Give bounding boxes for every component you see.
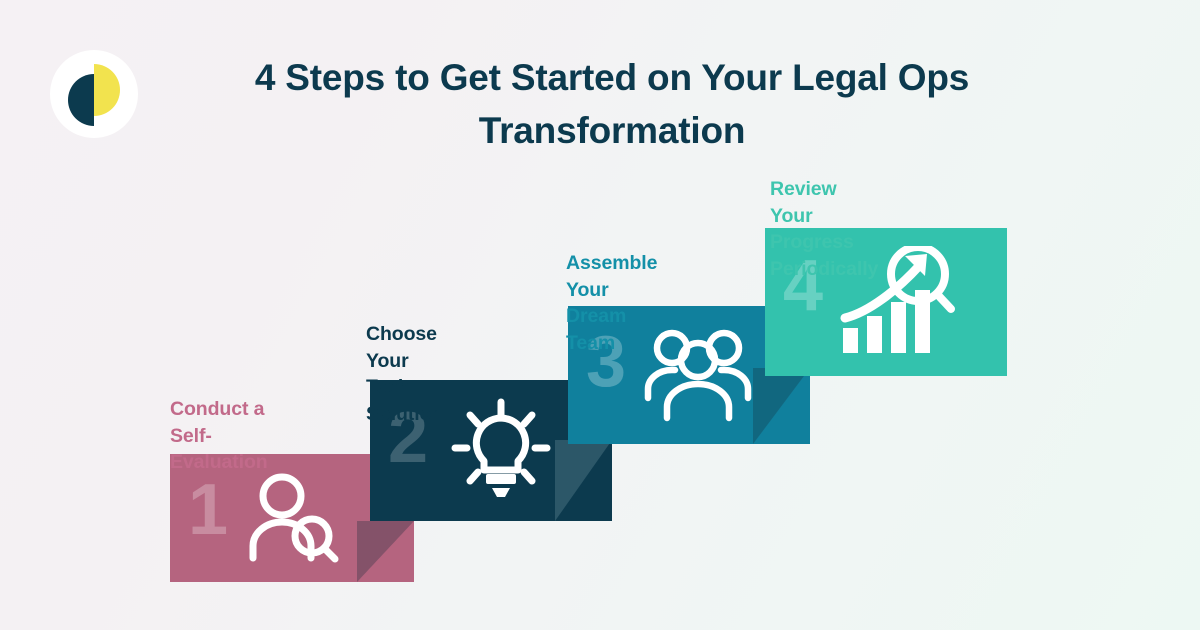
step-1-label: Conduct a Self-Evaluation bbox=[170, 396, 268, 476]
person-with-magnifier-icon bbox=[242, 470, 342, 566]
page-title: 4 Steps to Get Started on Your Legal Ops… bbox=[222, 52, 1002, 157]
step-3-label: Assemble Your Dream Team bbox=[566, 250, 657, 357]
people-group-icon bbox=[644, 322, 752, 424]
step-3-fold-shadow bbox=[753, 368, 810, 444]
step-2-label: Choose Your Tech Solution bbox=[366, 321, 443, 428]
split-circle-logo-icon bbox=[68, 62, 120, 126]
infographic-canvas: 4 Steps to Get Started on Your Legal Ops… bbox=[0, 0, 1200, 630]
lightbulb-icon bbox=[448, 398, 554, 502]
step-1-fold-shadow bbox=[357, 521, 414, 582]
step-1-number: 1 bbox=[188, 474, 228, 546]
step-4-label: Review Your Progress Periodically bbox=[770, 176, 878, 283]
step-2-fold-shadow bbox=[555, 440, 612, 521]
